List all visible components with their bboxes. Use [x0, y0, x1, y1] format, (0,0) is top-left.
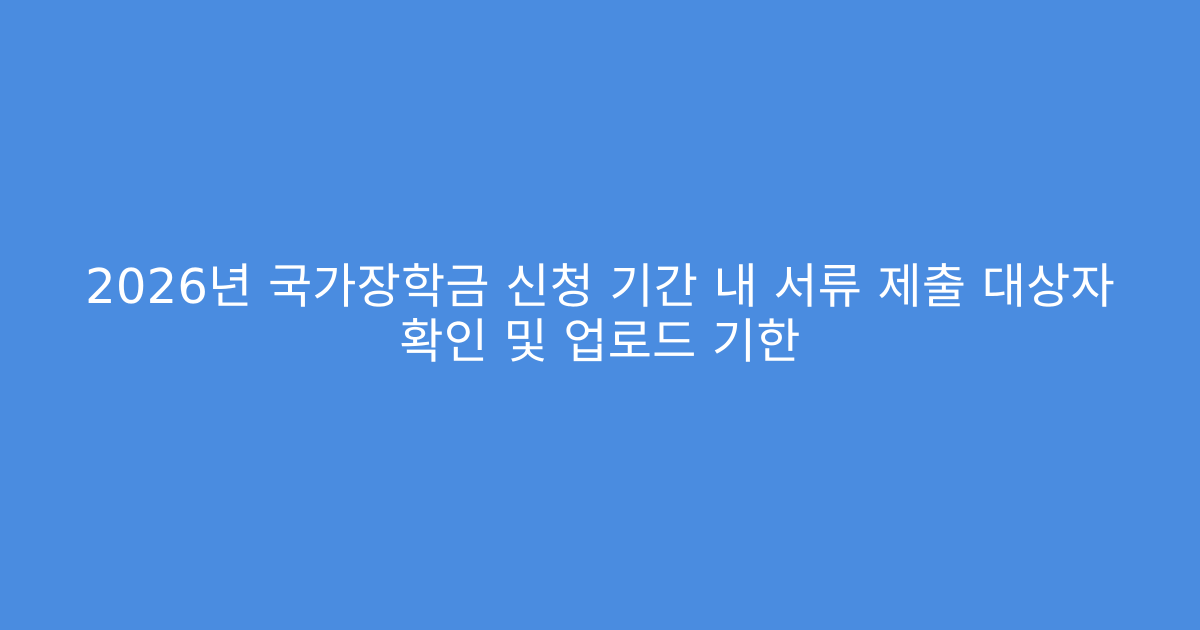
social-share-card: 2026년 국가장학금 신청 기간 내 서류 제출 대상자 확인 및 업로드 기…: [0, 0, 1200, 630]
card-content: 2026년 국가장학금 신청 기간 내 서류 제출 대상자 확인 및 업로드 기…: [48, 260, 1152, 370]
page-title: 2026년 국가장학금 신청 기간 내 서류 제출 대상자 확인 및 업로드 기…: [65, 260, 1135, 370]
